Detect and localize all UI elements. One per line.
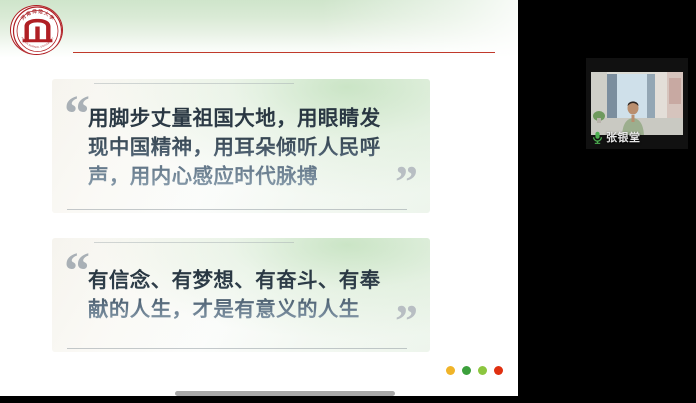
participant-video-tile[interactable]: 张银堂: [586, 58, 688, 149]
slide-header-band-fade: [0, 0, 518, 58]
pagination-dot[interactable]: [462, 366, 471, 375]
microphone-icon: [592, 131, 603, 144]
quote-card-bottom-hairline: [67, 348, 407, 349]
open-quote-icon: “: [64, 246, 88, 298]
participant-name-row: 张银堂: [592, 129, 641, 145]
quote-card-top-hairline: [94, 83, 294, 84]
quote-card: “ ” 用脚步丈量祖国大地，用眼睛发 现中国精神，用耳朵倾听人民呼 声，用内心感…: [52, 79, 430, 213]
open-quote-icon: “: [64, 89, 88, 141]
video-conference-panel: 张银堂: [518, 0, 696, 403]
pagination-dot[interactable]: [446, 366, 455, 375]
participant-name: 张银堂: [606, 129, 641, 145]
quote-card-top-hairline: [94, 242, 294, 243]
bottom-black-strip: [0, 396, 696, 403]
pagination-dot[interactable]: [494, 366, 503, 375]
quote-card-bottom-hairline: [67, 209, 407, 210]
quote-text: 用脚步丈量祖国大地，用眼睛发 现中国精神，用耳朵倾听人民呼 声，用内心感应时代脉…: [88, 104, 418, 191]
pagination-dot[interactable]: [478, 366, 487, 375]
header-divider-rule: [73, 52, 495, 53]
presentation-slide[interactable]: 河 南 师 范 大 学 HENAN NORMAL UNIVERSITY “ ” …: [0, 0, 518, 396]
university-seal-logo: 河 南 师 范 大 学 HENAN NORMAL UNIVERSITY: [10, 5, 63, 55]
quote-card: “ ” 有信念、有梦想、有奋斗、有奉 献的人生，才是有意义的人生: [52, 238, 430, 352]
participant-video-feed: [591, 72, 683, 135]
quote-text: 有信念、有梦想、有奋斗、有奉 献的人生，才是有意义的人生: [88, 266, 418, 324]
screen-root: 河 南 师 范 大 学 HENAN NORMAL UNIVERSITY “ ” …: [0, 0, 696, 403]
pagination-dots: [446, 366, 503, 375]
